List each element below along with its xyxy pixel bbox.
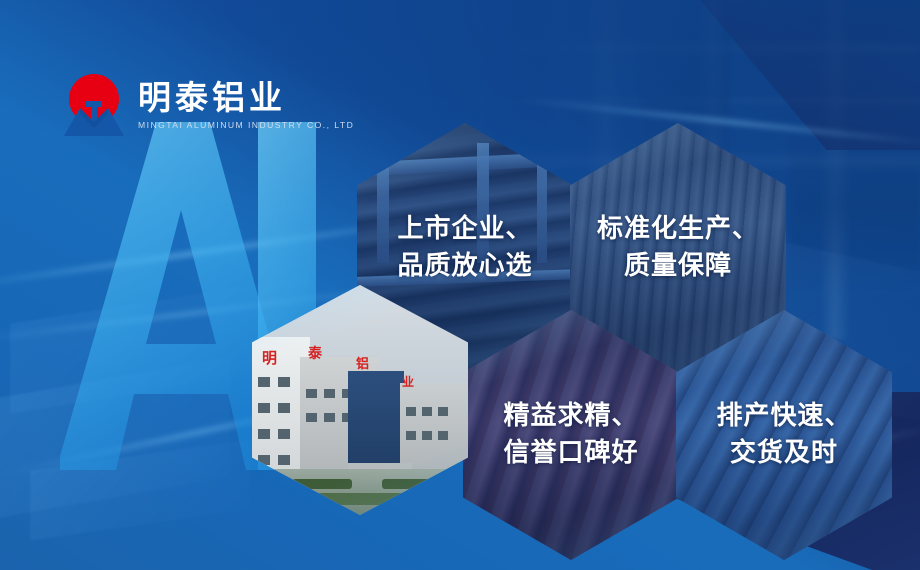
promo-banner: 明泰铝业 MINGTAI ALUMINUM INDUSTRY CO., LTD …	[0, 0, 920, 570]
photo-sign-char-4: 业	[402, 373, 414, 390]
logo-text-block: 明泰铝业 MINGTAI ALUMINUM INDUSTRY CO., LTD	[138, 80, 354, 131]
hex-label-standardized-production: 标准化生产、 质量保障	[597, 211, 759, 285]
logo-name-en: MINGTAI ALUMINUM INDUSTRY CO., LTD	[138, 120, 354, 130]
hex-label-listed-company: 上市企业、 品质放心选	[397, 211, 532, 285]
hex-label-fast-scheduling-delivery: 排产快速、 交货及时	[716, 398, 851, 472]
mingtai-logo-mark	[62, 72, 126, 138]
photo-sign-char-3: 铝	[356, 353, 369, 372]
logo-name-cn: 明泰铝业	[138, 80, 354, 117]
photo-sign-char-2: 泰	[308, 343, 322, 363]
hex-label-excellence-reputation: 精益求精、 信誉口碑好	[503, 398, 638, 472]
photo-sign-char-1: 明	[262, 347, 277, 368]
company-logo: 明泰铝业 MINGTAI ALUMINUM INDUSTRY CO., LTD	[62, 72, 354, 138]
